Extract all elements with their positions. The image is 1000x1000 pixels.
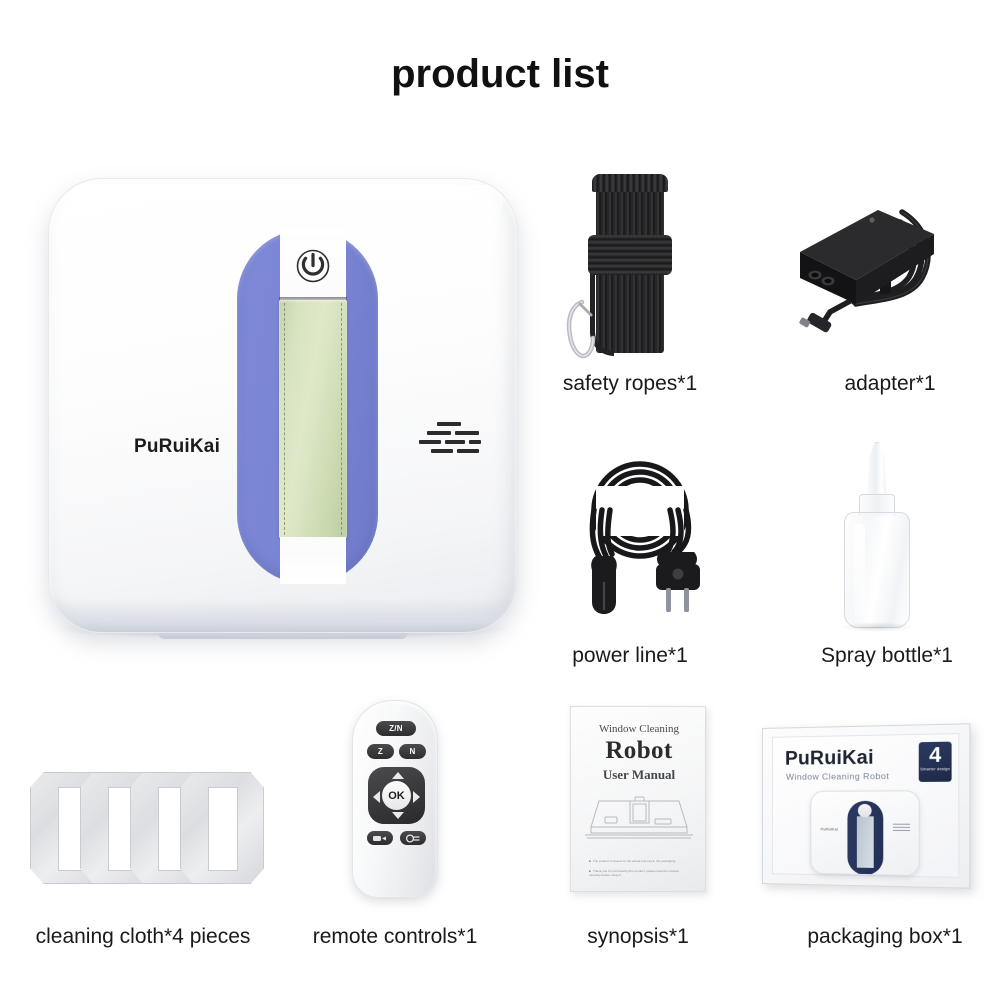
right-arrow-icon[interactable]: [413, 791, 420, 803]
status-badge: 4 Smarter design: [919, 742, 952, 782]
remote-control-image: Z/N Z N OK: [352, 700, 438, 900]
window-cleaning-robot-image: PuRuiKai: [48, 178, 518, 648]
remote-button-z[interactable]: Z: [367, 744, 394, 759]
page-title: product list: [0, 52, 1000, 97]
caption-packaging-box: packaging box*1: [755, 925, 1000, 949]
caption-remote-controls: remote controls*1: [265, 925, 525, 949]
box-brand-label: PuRuiKai: [785, 747, 874, 771]
cloth-pad: [180, 772, 264, 884]
caption-power-line: power line*1: [500, 644, 760, 668]
bottle-shadow: [840, 622, 914, 632]
remote-button-n[interactable]: N: [399, 744, 426, 759]
up-arrow-icon[interactable]: [392, 772, 404, 779]
safety-ropes-image: [560, 178, 700, 363]
power-button-icon[interactable]: [292, 245, 334, 287]
robot-handle-strap: [279, 300, 347, 538]
vent-grille-icon: [419, 422, 481, 454]
carabiner-icon: [564, 298, 600, 360]
box-subtitle-label: Window Cleaning Robot: [786, 771, 889, 782]
box-robot-power-icon: [858, 804, 872, 817]
power-mode-icon[interactable]: [400, 831, 426, 845]
power-line-image: [556, 452, 726, 632]
box-robot-handle: [857, 816, 874, 868]
spray-icon[interactable]: [367, 831, 393, 845]
down-arrow-icon[interactable]: [392, 812, 404, 819]
manual-bullet-1: The product is based on the actual real …: [589, 859, 689, 863]
caption-safety-ropes: safety ropes*1: [500, 372, 760, 396]
badge-number: 4: [919, 742, 952, 770]
caption-synopsis: synopsis*1: [508, 925, 768, 949]
adapter-image: [782, 192, 952, 362]
synopsis-manual-image: Window Cleaning Robot User Manual: [570, 706, 706, 892]
box-robot-vent-icon: [893, 823, 910, 831]
caption-adapter: adapter*1: [760, 372, 1000, 396]
manual-bullet-2: Thank you for purchasing this product, p…: [589, 869, 689, 878]
rope-wrap-band: [588, 235, 672, 275]
robot-bottom-edge: [49, 598, 518, 632]
robot-gloss-highlight: [65, 185, 503, 225]
manual-title-line1: Window Cleaning: [571, 723, 707, 735]
remote-button-zn[interactable]: Z/N: [376, 721, 416, 736]
caption-cleaning-cloth: cleaning cloth*4 pieces: [13, 925, 273, 949]
remote-button-ok[interactable]: OK: [382, 781, 411, 810]
cloth-slot: [208, 787, 238, 871]
robot-body: PuRuiKai: [48, 178, 518, 633]
badge-label: Smarter design: [919, 767, 952, 772]
bottle-cap: [864, 442, 890, 498]
caption-spray-bottle: Spray bottle*1: [757, 644, 1000, 668]
box-robot-illustration: PuRuiKai: [810, 790, 920, 876]
product-list-page: product list PuRuiKai: [0, 0, 1000, 1000]
cleaning-cloth-image: [30, 772, 265, 890]
packaging-box-image: PuRuiKai Window Cleaning Robot 4 Smarter…: [762, 728, 968, 892]
manual-title-line3: User Manual: [571, 767, 707, 783]
left-arrow-icon[interactable]: [373, 791, 380, 803]
manual-robot-illustration: [583, 793, 695, 845]
box-front-face: PuRuiKai Window Cleaning Robot 4 Smarter…: [762, 723, 971, 889]
box-robot-brand-label: PuRuiKai: [821, 826, 838, 831]
spray-bottle-image: [832, 440, 922, 628]
manual-title-line2: Robot: [571, 737, 707, 765]
robot-lower-panel: [280, 537, 346, 584]
manual-cover: Window Cleaning Robot User Manual: [570, 706, 706, 892]
robot-brand-label: PuRuiKai: [134, 436, 220, 458]
remote-dpad[interactable]: OK: [368, 767, 425, 824]
bottle-body: [844, 512, 910, 628]
remote-body: Z/N Z N OK: [352, 700, 438, 898]
